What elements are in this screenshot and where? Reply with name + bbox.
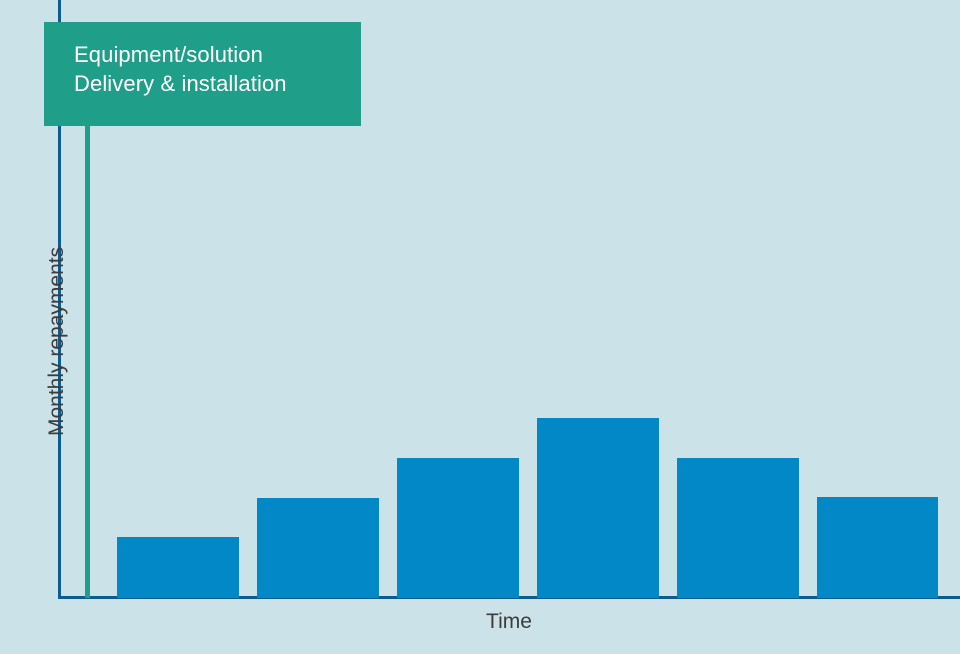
callout-line-1: Equipment/solution bbox=[74, 40, 361, 69]
bar-4 bbox=[537, 418, 659, 598]
bar-5 bbox=[677, 458, 799, 598]
bar-1 bbox=[117, 537, 239, 598]
callout-line-2: Delivery & installation bbox=[74, 69, 361, 98]
bar-3 bbox=[397, 458, 519, 598]
bar-6 bbox=[817, 497, 938, 598]
x-axis-title: Time bbox=[58, 607, 960, 637]
bar-chart: Equipment/solution Delivery & installati… bbox=[0, 0, 960, 654]
delivery-callout-box: Equipment/solution Delivery & installati… bbox=[44, 22, 361, 126]
bar-2 bbox=[257, 498, 379, 598]
y-axis-title: Monthly repayments bbox=[38, 176, 76, 436]
